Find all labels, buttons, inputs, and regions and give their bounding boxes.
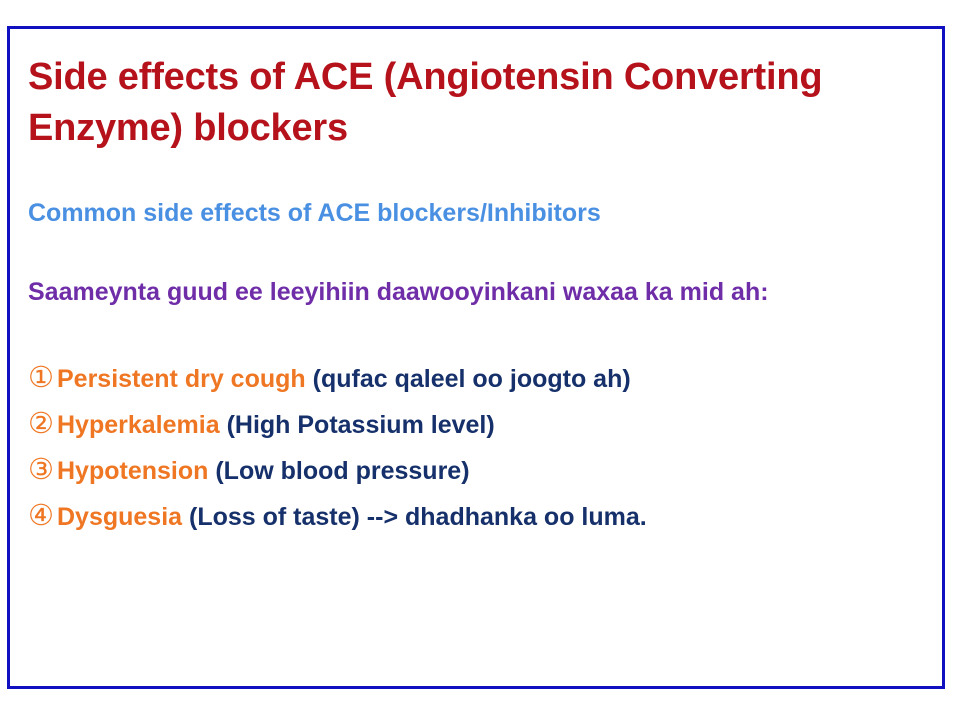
list-item: ③Hypotension (Low blood pressure)	[28, 448, 930, 494]
circled-number-4-icon: ④	[28, 500, 57, 532]
side-effect-term: Persistent dry cough	[57, 365, 306, 393]
side-effect-term: Hyperkalemia	[57, 411, 220, 439]
side-effects-list: ①Persistent dry cough (qufac qaleel oo j…	[28, 314, 930, 540]
subtitle-common-side-effects: Common side effects of ACE blockers/Inhi…	[28, 154, 930, 230]
circled-number-3-icon: ③	[28, 454, 57, 486]
side-effect-term: Hypotension	[57, 457, 208, 485]
side-effect-term: Dysguesia	[57, 503, 182, 531]
circled-number-2-icon: ②	[28, 408, 57, 440]
side-effect-gloss: (Loss of taste) --> dhadhanka oo luma.	[189, 503, 647, 531]
circled-number-1-icon: ①	[28, 362, 57, 394]
side-effect-gloss: (High Potassium level)	[227, 411, 495, 439]
slide-content: Side effects of ACE (Angiotensin Convert…	[28, 52, 930, 540]
side-effect-gloss: (qufac qaleel oo joogto ah)	[313, 365, 631, 393]
intro-paragraph-somali: Saameynta guud ee leeyihiin daawooyinkan…	[28, 230, 888, 314]
slide-canvas: Side effects of ACE (Angiotensin Convert…	[0, 0, 960, 720]
list-item: ④Dysguesia (Loss of taste) --> dhadhanka…	[28, 494, 930, 540]
list-item: ②Hyperkalemia (High Potassium level)	[28, 402, 930, 448]
side-effect-gloss: (Low blood pressure)	[215, 457, 469, 485]
page-title: Side effects of ACE (Angiotensin Convert…	[28, 52, 908, 154]
list-item: ①Persistent dry cough (qufac qaleel oo j…	[28, 356, 930, 402]
